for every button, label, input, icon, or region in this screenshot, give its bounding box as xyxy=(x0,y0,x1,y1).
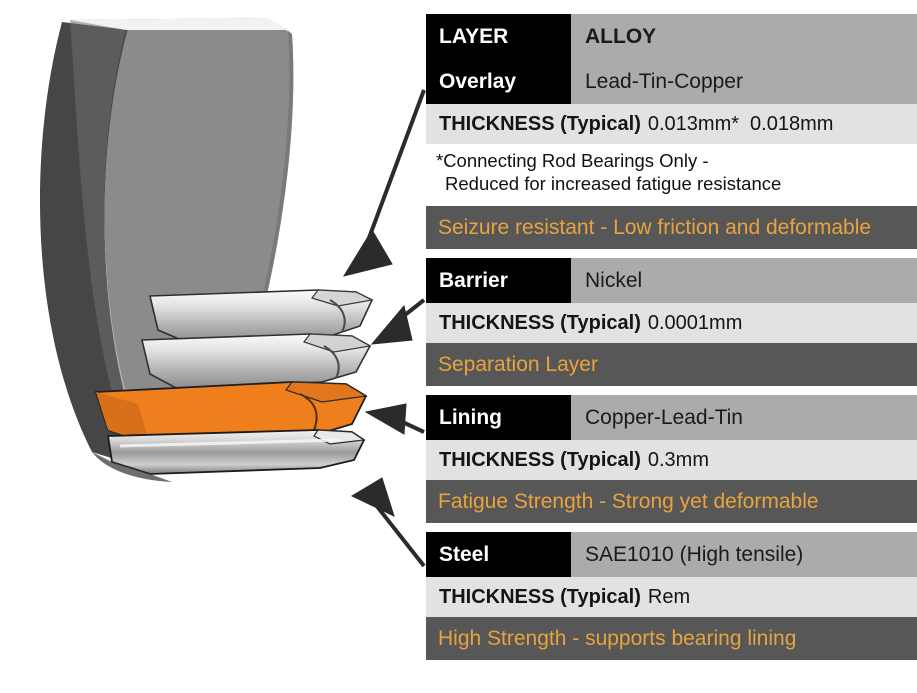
barrier-row: Barrier Nickel xyxy=(426,258,917,303)
overlay-footnote: *Connecting Rod Bearings Only - Reduced … xyxy=(426,144,917,206)
barrier-layer-strip xyxy=(142,334,370,388)
barrier-alloy-value: Nickel xyxy=(571,258,917,303)
barrier-thickness-label: THICKNESS (Typical) xyxy=(439,312,641,335)
bearing-layer-diagram: LAYER ALLOY Overlay Lead-Tin-Copper THIC… xyxy=(0,0,917,693)
overlay-benefit-band: Seizure resistant - Low friction and def… xyxy=(426,206,917,249)
layer-group-overlay: Overlay Lead-Tin-Copper THICKNESS (Typic… xyxy=(426,59,917,249)
steel-benefit-band: High Strength - supports bearing lining xyxy=(426,617,917,660)
steel-row: Steel SAE1010 (High tensile) xyxy=(426,532,917,577)
overlay-layer-name: Overlay xyxy=(426,59,571,104)
header-alloy-label: ALLOY xyxy=(571,14,917,59)
overlay-thickness-row: THICKNESS (Typical) 0.013mm* 0.018mm xyxy=(426,104,917,144)
bearing-illustration xyxy=(0,0,424,693)
barrier-benefit-band: Separation Layer xyxy=(426,343,917,386)
barrier-thickness-value: 0.0001mm xyxy=(648,312,743,335)
header-layer-label: LAYER xyxy=(426,14,571,59)
steel-layer-name: Steel xyxy=(426,532,571,577)
lining-row: Lining Copper-Lead-Tin xyxy=(426,395,917,440)
layer-group-lining: Lining Copper-Lead-Tin THICKNESS (Typica… xyxy=(426,395,917,523)
steel-alloy-value: SAE1010 (High tensile) xyxy=(571,532,917,577)
steel-thickness-value: Rem xyxy=(648,586,690,609)
table-header-group: LAYER ALLOY xyxy=(426,14,917,59)
table-header-row: LAYER ALLOY xyxy=(426,14,917,59)
barrier-layer-name: Barrier xyxy=(426,258,571,303)
overlay-alloy-value: Lead-Tin-Copper xyxy=(571,59,917,104)
lining-thickness-value: 0.3mm xyxy=(648,449,709,472)
layer-group-steel: Steel SAE1010 (High tensile) THICKNESS (… xyxy=(426,532,917,660)
layer-group-barrier: Barrier Nickel THICKNESS (Typical) 0.000… xyxy=(426,258,917,386)
overlay-thickness-value-alt: 0.018mm xyxy=(750,113,833,136)
steel-layer-strip xyxy=(92,430,364,482)
lining-thickness-label: THICKNESS (Typical) xyxy=(439,449,641,472)
steel-thickness-label: THICKNESS (Typical) xyxy=(439,586,641,609)
overlay-thickness-value: 0.013mm* xyxy=(648,113,739,136)
lining-alloy-value: Copper-Lead-Tin xyxy=(571,395,917,440)
lining-layer-name: Lining xyxy=(426,395,571,440)
overlay-footnote-line1: *Connecting Rod Bearings Only - xyxy=(436,150,709,171)
overlay-thickness-label: THICKNESS (Typical) xyxy=(439,113,641,136)
overlay-footnote-line2: Reduced for increased fatigue resistance xyxy=(436,173,917,196)
lining-thickness-row: THICKNESS (Typical) 0.3mm xyxy=(426,440,917,480)
overlay-layer-strip xyxy=(150,290,372,342)
steel-thickness-row: THICKNESS (Typical) Rem xyxy=(426,577,917,617)
overlay-row: Overlay Lead-Tin-Copper xyxy=(426,59,917,104)
lining-benefit-band: Fatigue Strength - Strong yet deformable xyxy=(426,480,917,523)
barrier-thickness-row: THICKNESS (Typical) 0.0001mm xyxy=(426,303,917,343)
layer-specification-table: LAYER ALLOY Overlay Lead-Tin-Copper THIC… xyxy=(426,14,917,660)
